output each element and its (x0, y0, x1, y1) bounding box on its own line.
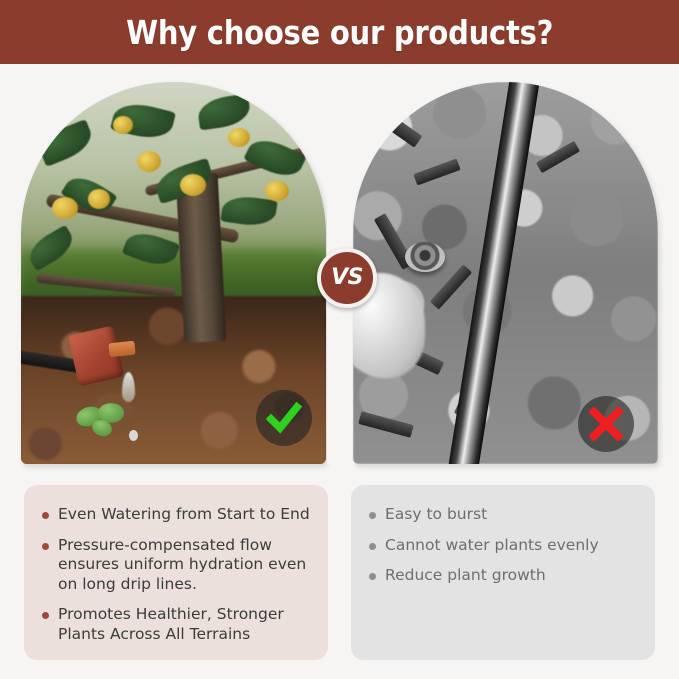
osmanthus-flower (180, 174, 206, 196)
vs-badge: VS (317, 248, 377, 308)
emitter-nozzle (109, 340, 136, 357)
osmanthus-flower (52, 197, 78, 219)
list-item: Cannot water plants evenly (369, 536, 637, 556)
tree-trunk (175, 173, 226, 343)
page-title: Why choose our products? (126, 13, 553, 52)
cons-list: Easy to burst Cannot water plants evenly… (369, 505, 637, 586)
list-item: Reduce plant growth (369, 566, 637, 586)
list-item: Pressure-compensated flow ensures unifor… (42, 536, 310, 595)
vs-label: VS (331, 267, 363, 289)
list-item: Easy to burst (369, 505, 637, 525)
osmanthus-flower (137, 151, 161, 172)
pros-panel: Even Watering from Start to End Pressure… (24, 485, 328, 660)
water-droplet (129, 430, 138, 441)
cross-icon (587, 405, 625, 443)
check-icon (264, 398, 304, 438)
osmanthus-flower (88, 189, 110, 209)
seedling-sprout (76, 403, 130, 433)
water-stream (122, 372, 135, 402)
pros-list: Even Watering from Start to End Pressure… (42, 505, 310, 644)
osmanthus-flower (113, 116, 133, 134)
cons-panel: Easy to burst Cannot water plants evenly… (351, 485, 655, 660)
check-status-badge (256, 390, 312, 446)
header-banner: Why choose our products? (0, 0, 679, 64)
list-item: Even Watering from Start to End (42, 505, 310, 525)
list-item: Promotes Healthier, Stronger Plants Acro… (42, 605, 310, 644)
cross-status-badge (578, 396, 634, 452)
